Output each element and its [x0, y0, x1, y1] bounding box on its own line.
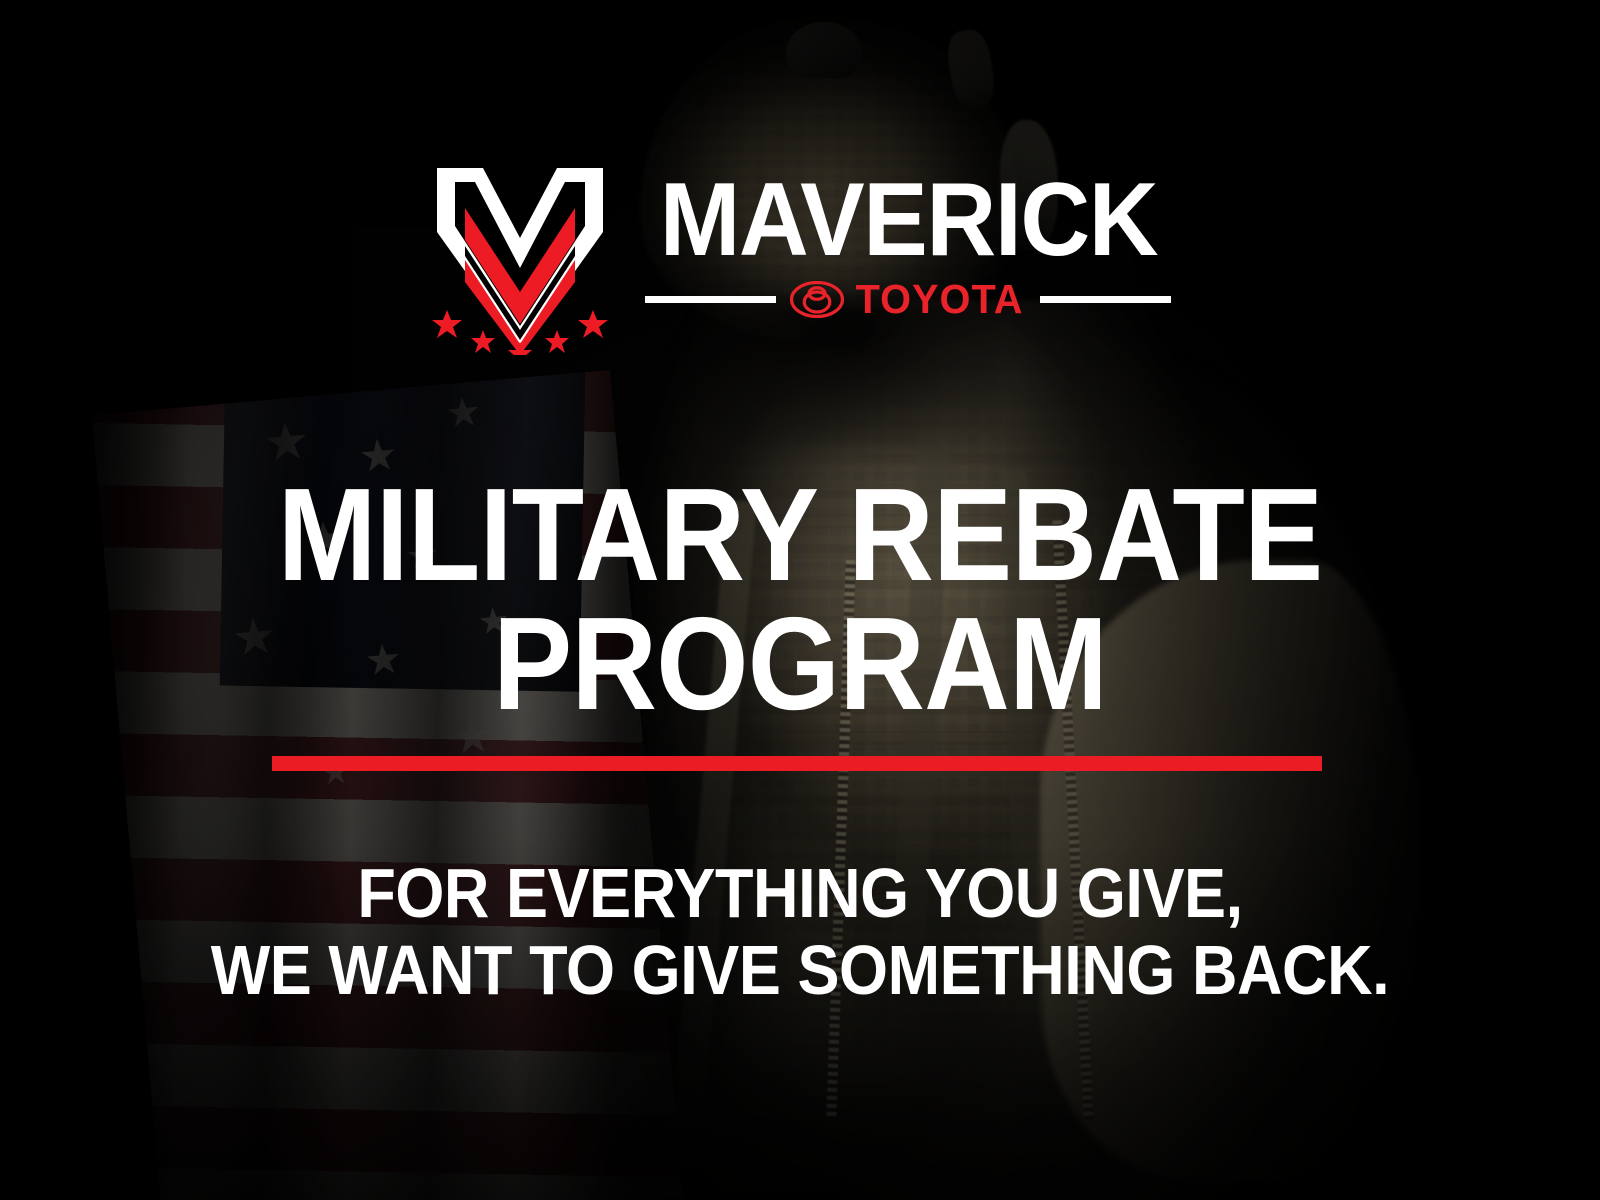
subheadline-line-1: FOR EVERYTHING YOU GIVE,	[80, 855, 1520, 932]
promo-banner: ★ ★ ★ ★ ★ ★ ★ ★ ★ ★	[0, 0, 1600, 1200]
headline-line-2: PROGRAM	[80, 599, 1520, 728]
toyota-ellipse-emblem-icon	[790, 281, 844, 318]
wordmark-column: MAVERICK TOYOTA	[641, 160, 1176, 320]
brand-logo-lockup[interactable]: MAVERICK TOYOTA	[0, 160, 1600, 355]
rule-right	[1040, 296, 1171, 303]
rule-left	[645, 296, 776, 303]
headline: MILITARY REBATE PROGRAM	[0, 470, 1600, 729]
military-chevron-emblem-icon	[425, 160, 615, 355]
brand-name: MAVERICK	[659, 176, 1157, 265]
overlay-content: MAVERICK TOYOTA MILITARY R	[0, 0, 1600, 1200]
red-divider	[272, 756, 1322, 771]
toyota-endorsement-row: TOYOTA	[645, 279, 1171, 320]
subheadline-line-2: WE WANT TO GIVE SOMETHING BACK.	[80, 932, 1520, 1009]
subheadline: FOR EVERYTHING YOU GIVE, WE WANT TO GIVE…	[0, 855, 1600, 1009]
toyota-logo: TOYOTA	[790, 279, 1026, 320]
toyota-name: TOYOTA	[856, 279, 1024, 320]
headline-line-1: MILITARY REBATE	[80, 470, 1520, 599]
